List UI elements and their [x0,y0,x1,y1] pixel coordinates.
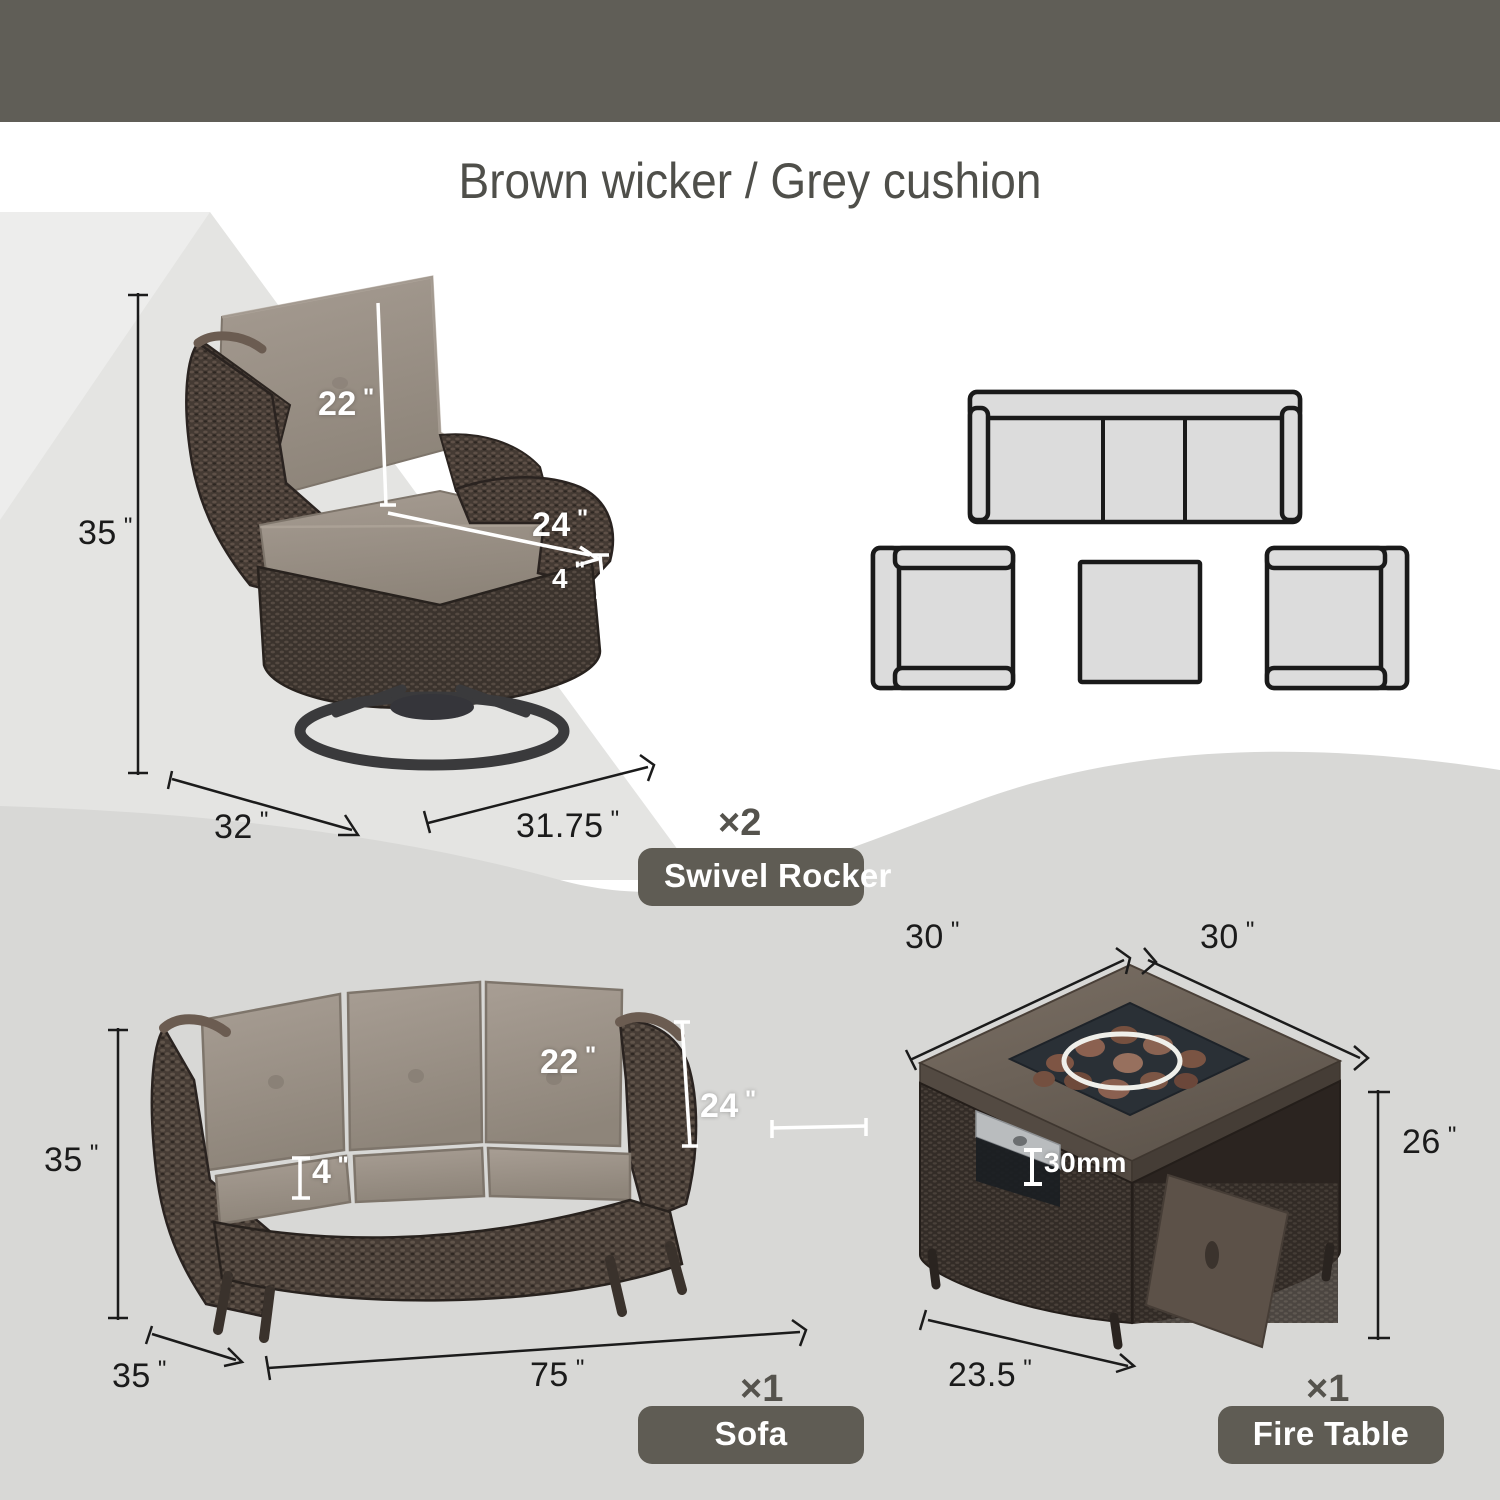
product-size-page: PRODUCT SIZE Brown wicker / Grey cushion [0,0,1500,1500]
sofa-dim-width: 75" [530,1355,585,1395]
swivel-rocker-badge: Swivel Rocker [638,848,864,906]
diagram-chair-left [873,548,1013,688]
sofa-back-height-line [682,1022,690,1146]
sofa-quantity: ×1 [740,1368,783,1411]
diagram-fire-table [1080,562,1200,682]
swivel-rocker-quantity: ×2 [718,802,761,845]
sofa-badge: Sofa [638,1406,864,1464]
fire-table-dim-right-edge: 30" [1200,917,1255,957]
chair-dim-seat-depth: 24" [532,505,589,545]
sofa-dim-depth: 35" [112,1356,167,1396]
sofa-seat-depth-line [772,1126,866,1128]
chair-dim-cushion-thickness: 4" [552,557,586,595]
sofa-dim-cushion-thickness: 4" [312,1152,349,1192]
chair-cushion-thickness-line [600,555,604,597]
page-subtitle: Brown wicker / Grey cushion [60,152,1440,210]
fire-table-badge: Fire Table [1218,1406,1444,1464]
fire-table-dim-height: 26" [1402,1122,1457,1162]
diagram-chair-right [1267,548,1407,688]
header-bar [0,0,1500,122]
set-layout-diagram [855,380,1425,690]
chair-dim-height: 35" [78,513,133,553]
fire-table-left-edge-line [910,960,1124,1060]
diagram-sofa [970,392,1300,522]
chair-back-height-line [378,303,386,505]
chair-dim-back-height: 22" [318,384,375,424]
fire-table-right-edge-line [1148,960,1360,1058]
sofa-dim-seat-depth: 24" [700,1086,757,1126]
sofa-dim-back-height: 22" [540,1042,597,1082]
fire-table-dim-depth: 23.5" [948,1355,1032,1395]
sofa-dim-height: 35" [44,1140,99,1180]
fire-table-dim-left-edge: 30" [905,917,960,957]
chair-dimension-lines [0,255,760,875]
chair-dim-depth: 32" [214,807,269,847]
fire-table-quantity: ×1 [1306,1368,1349,1411]
chair-dim-width: 31.75" [516,806,620,846]
fire-table-dim-thickness: 30mm [1044,1147,1127,1179]
